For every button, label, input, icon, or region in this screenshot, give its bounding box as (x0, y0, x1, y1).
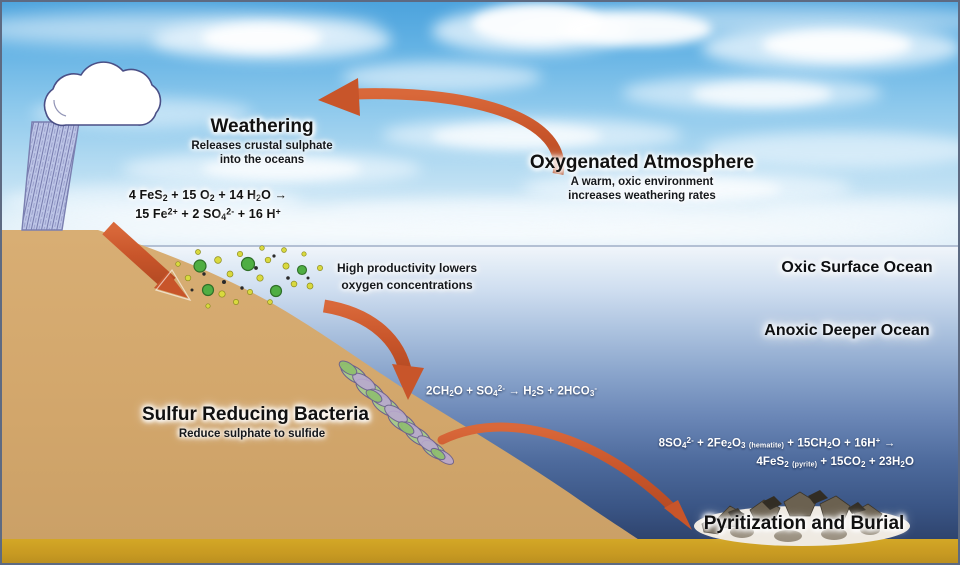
anoxic-deeper-ocean-text: Anoxic Deeper Ocean (752, 322, 942, 341)
bacteria-label: Sulfur Reducing Bacteria Reduce sulphate… (142, 404, 362, 442)
weathering-equation-line-2: 15 Fe2+ + 2 SO42- + 16 H+ (88, 205, 328, 224)
oxic-surface-ocean-text: Oxic Surface Ocean (772, 259, 942, 278)
pyritization-equation: 8SO42- + 2Fe2O3 (hematite) + 15CH2O + 16… (632, 434, 922, 472)
weathering-equation: 4 FeS2 + 15 O2 + 14 H2O → 15 Fe2+ + 2 SO… (88, 186, 328, 225)
burial-title: Pyritization and Burial (694, 513, 914, 535)
weathering-title: Weathering (142, 116, 382, 138)
bacteria-subtitle: Reduce sulphate to sulfide (142, 428, 362, 442)
pyritization-equation-line-2: 4FeS2 (pyrite) + 15CO2 + 23H2O (632, 453, 922, 472)
weathering-subtitle-2: into the oceans (142, 154, 382, 168)
rain-shaft-icon (22, 122, 79, 230)
weathering-subtitle-1: Releases crustal sulphate (142, 140, 382, 154)
atmosphere-subtitle-2: increases weathering rates (462, 190, 822, 204)
pyritization-equation-line-1: 8SO42- + 2Fe2O3 (hematite) + 15CH2O + 16… (632, 434, 922, 453)
sulfur-cycle-figure: Oxygenated Atmosphere A warm, oxic envir… (0, 0, 960, 565)
sulfate-reduction-equation-text: 2CH2O + SO42- → H2S + 2HCO3- (426, 382, 626, 401)
oxic-surface-ocean-label: Oxic Surface Ocean (772, 259, 942, 278)
productivity-line-1: High productivity lowers (332, 260, 482, 277)
anoxic-deeper-ocean-label: Anoxic Deeper Ocean (752, 322, 942, 341)
productivity-line-2: oxygen concentrations (332, 277, 482, 294)
productivity-note: High productivity lowers oxygen concentr… (332, 260, 482, 295)
burial-label: Pyritization and Burial (694, 513, 914, 535)
weathering-label: Weathering Releases crustal sulphate int… (142, 116, 382, 168)
sulfate-reduction-equation: 2CH2O + SO42- → H2S + 2HCO3- (426, 382, 626, 401)
atmosphere-subtitle-1: A warm, oxic environment (462, 176, 822, 190)
atmosphere-title: Oxygenated Atmosphere (462, 152, 822, 174)
bacteria-title: Sulfur Reducing Bacteria (142, 404, 362, 426)
atmosphere-label: Oxygenated Atmosphere A warm, oxic envir… (462, 152, 822, 204)
weathering-equation-line-1: 4 FeS2 + 15 O2 + 14 H2O → (88, 186, 328, 205)
